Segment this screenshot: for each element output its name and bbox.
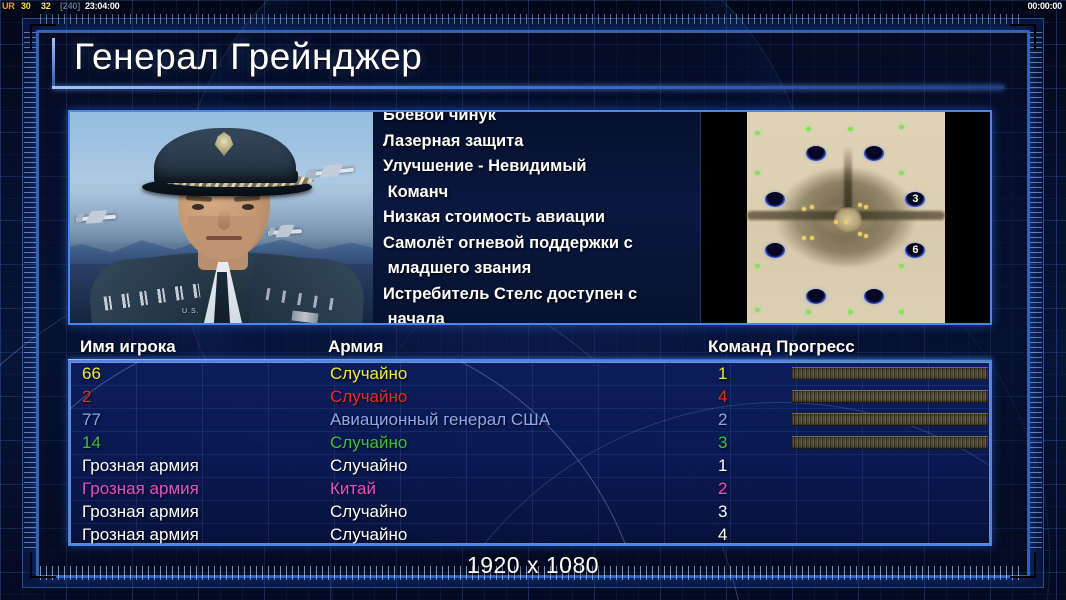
corner-bracket-top-right-icon [1010, 24, 1036, 50]
map-start-position [806, 289, 826, 304]
debug-value-a: 30 [21, 0, 31, 12]
table-row[interactable]: 66Случайно1 [70, 362, 990, 385]
general-abilities-panel: Боевой чинук Лазерная защита Улучшение -… [373, 112, 700, 323]
ability-item: Лазерная защита [383, 129, 699, 155]
ability-item: Улучшение - Невидимый Команч [383, 154, 699, 205]
player-name-cell[interactable]: Грозная армия [82, 500, 199, 523]
table-row[interactable]: Грозная армияКитай2 [70, 477, 990, 500]
map-supply-dock-icon [899, 310, 904, 314]
map-start-position: 6 [905, 243, 925, 258]
map-oil-derrick-icon [858, 203, 862, 207]
player-progress-cell [792, 390, 988, 403]
table-row[interactable]: Грозная армияСлучайно1 [70, 454, 990, 477]
player-team-cell[interactable]: 2 [718, 408, 727, 431]
player-name-cell[interactable]: Грозная армия [82, 454, 199, 477]
player-team-cell[interactable]: 1 [718, 362, 727, 385]
mouth [206, 236, 242, 240]
player-table-panel: 66Случайно12Случайно477Авиационный генер… [68, 360, 992, 546]
player-name-cell[interactable]: 66 [82, 362, 101, 385]
table-row[interactable]: Грозная армияСлучайно4 [70, 523, 990, 546]
table-row[interactable]: 77Авиационный генерал США2 [70, 408, 990, 431]
map-supply-dock-icon [848, 310, 853, 314]
table-row[interactable]: Грозная армияСлучайно3 [70, 500, 990, 523]
progress-bar [792, 390, 988, 403]
eye [192, 204, 204, 210]
map-oil-derrick-icon [834, 220, 838, 224]
eye [242, 204, 254, 210]
map-supply-dock-icon [899, 264, 904, 268]
debug-value-b: 32 [41, 0, 51, 12]
ability-item: Боевой чинук [383, 112, 699, 129]
debug-label: UR [2, 0, 15, 12]
us-insignia-label: U.S. [182, 308, 200, 315]
map-start-position [806, 146, 826, 161]
debug-right-clock: 00:00:00 [1028, 0, 1062, 12]
player-army-cell[interactable]: Случайно [330, 385, 407, 408]
column-header-team-progress: Команд Прогресс [708, 337, 855, 357]
player-team-cell[interactable]: 3 [718, 431, 727, 454]
player-army-cell[interactable]: Авиационный генерал США [330, 408, 550, 431]
map-preview[interactable]: 36 [700, 112, 990, 323]
player-progress-cell [792, 413, 988, 426]
progress-bar [792, 436, 988, 449]
title-underline [52, 86, 1004, 89]
player-team-cell[interactable]: 4 [718, 523, 727, 546]
player-army-cell[interactable]: Китай [330, 477, 376, 500]
map-supply-dock-icon [899, 171, 904, 175]
player-army-cell[interactable]: Случайно [330, 500, 407, 523]
map-supply-dock-icon [755, 131, 760, 135]
player-name-cell[interactable]: 14 [82, 431, 101, 454]
debug-status-bar: UR 30 32 [240] 23:04:00 00:00:00 [0, 0, 1066, 13]
map-supply-dock-icon [755, 171, 760, 175]
player-army-cell[interactable]: Случайно [330, 362, 407, 385]
map-oil-derrick-icon [844, 220, 848, 224]
player-team-cell[interactable]: 1 [718, 454, 727, 477]
column-header-army: Армия [328, 337, 383, 357]
ability-item: Истребитель Стелс доступен с начала [383, 282, 699, 324]
map-start-position [864, 289, 884, 304]
map-supply-dock-icon [806, 127, 811, 131]
title-tick-mark [52, 38, 55, 86]
progress-bar [792, 413, 988, 426]
map-start-position [864, 146, 884, 161]
player-team-cell[interactable]: 4 [718, 385, 727, 408]
map-supply-dock-icon [848, 127, 853, 131]
table-row[interactable]: 2Случайно4 [70, 385, 990, 408]
page-title: Генерал Грейнджер [74, 36, 422, 78]
debug-clock: 23:04:00 [85, 0, 119, 12]
map-terrain: 36 [747, 112, 945, 323]
table-row[interactable]: 14Случайно3 [70, 431, 990, 454]
general-portrait: U.S. [70, 112, 373, 323]
general-abilities-list: Боевой чинук Лазерная защита Улучшение -… [383, 112, 699, 323]
progress-bar [792, 367, 988, 380]
map-start-position: 3 [905, 192, 925, 207]
player-table-header: Имя игрока Армия Команд Прогресс [68, 337, 992, 359]
player-army-cell[interactable]: Случайно [330, 454, 407, 477]
player-team-cell[interactable]: 2 [718, 477, 727, 500]
map-oil-derrick-icon [864, 205, 868, 209]
general-figure: U.S. [70, 112, 373, 323]
map-supply-dock-icon [755, 264, 760, 268]
map-river-vertical [844, 146, 852, 214]
game-setup-screen: UR 30 32 [240] 23:04:00 00:00:00 Генерал… [0, 0, 1066, 600]
ability-item: Низкая стоимость авиации [383, 205, 699, 231]
player-progress-cell [792, 436, 988, 449]
map-oasis [834, 207, 862, 232]
player-progress-cell [792, 367, 988, 380]
player-name-cell[interactable]: Грозная армия [82, 523, 199, 546]
map-supply-dock-icon [806, 310, 811, 314]
ability-item: Самолёт огневой поддержки с младшего зва… [383, 231, 699, 282]
map-start-position [765, 243, 785, 258]
player-army-cell[interactable]: Случайно [330, 523, 407, 546]
player-team-cell[interactable]: 3 [718, 500, 727, 523]
general-info-panel: U.S. Боевой чинук Лазерная защита Улучше… [68, 110, 992, 325]
resolution-label: 1920 x 1080 [0, 552, 1066, 579]
column-header-player-name: Имя игрока [80, 337, 176, 357]
title-row: Генерал Грейнджер [52, 36, 1012, 88]
player-name-cell[interactable]: 2 [82, 385, 91, 408]
player-name-cell[interactable]: Грозная армия [82, 477, 199, 500]
map-start-position [765, 192, 785, 207]
debug-value-c: [240] [60, 0, 80, 12]
nose [218, 208, 230, 230]
map-supply-dock-icon [755, 308, 760, 312]
player-army-cell[interactable]: Случайно [330, 431, 407, 454]
map-supply-dock-icon [899, 125, 904, 129]
player-name-cell[interactable]: 77 [82, 408, 101, 431]
player-table-rows: 66Случайно12Случайно477Авиационный генер… [70, 362, 990, 546]
